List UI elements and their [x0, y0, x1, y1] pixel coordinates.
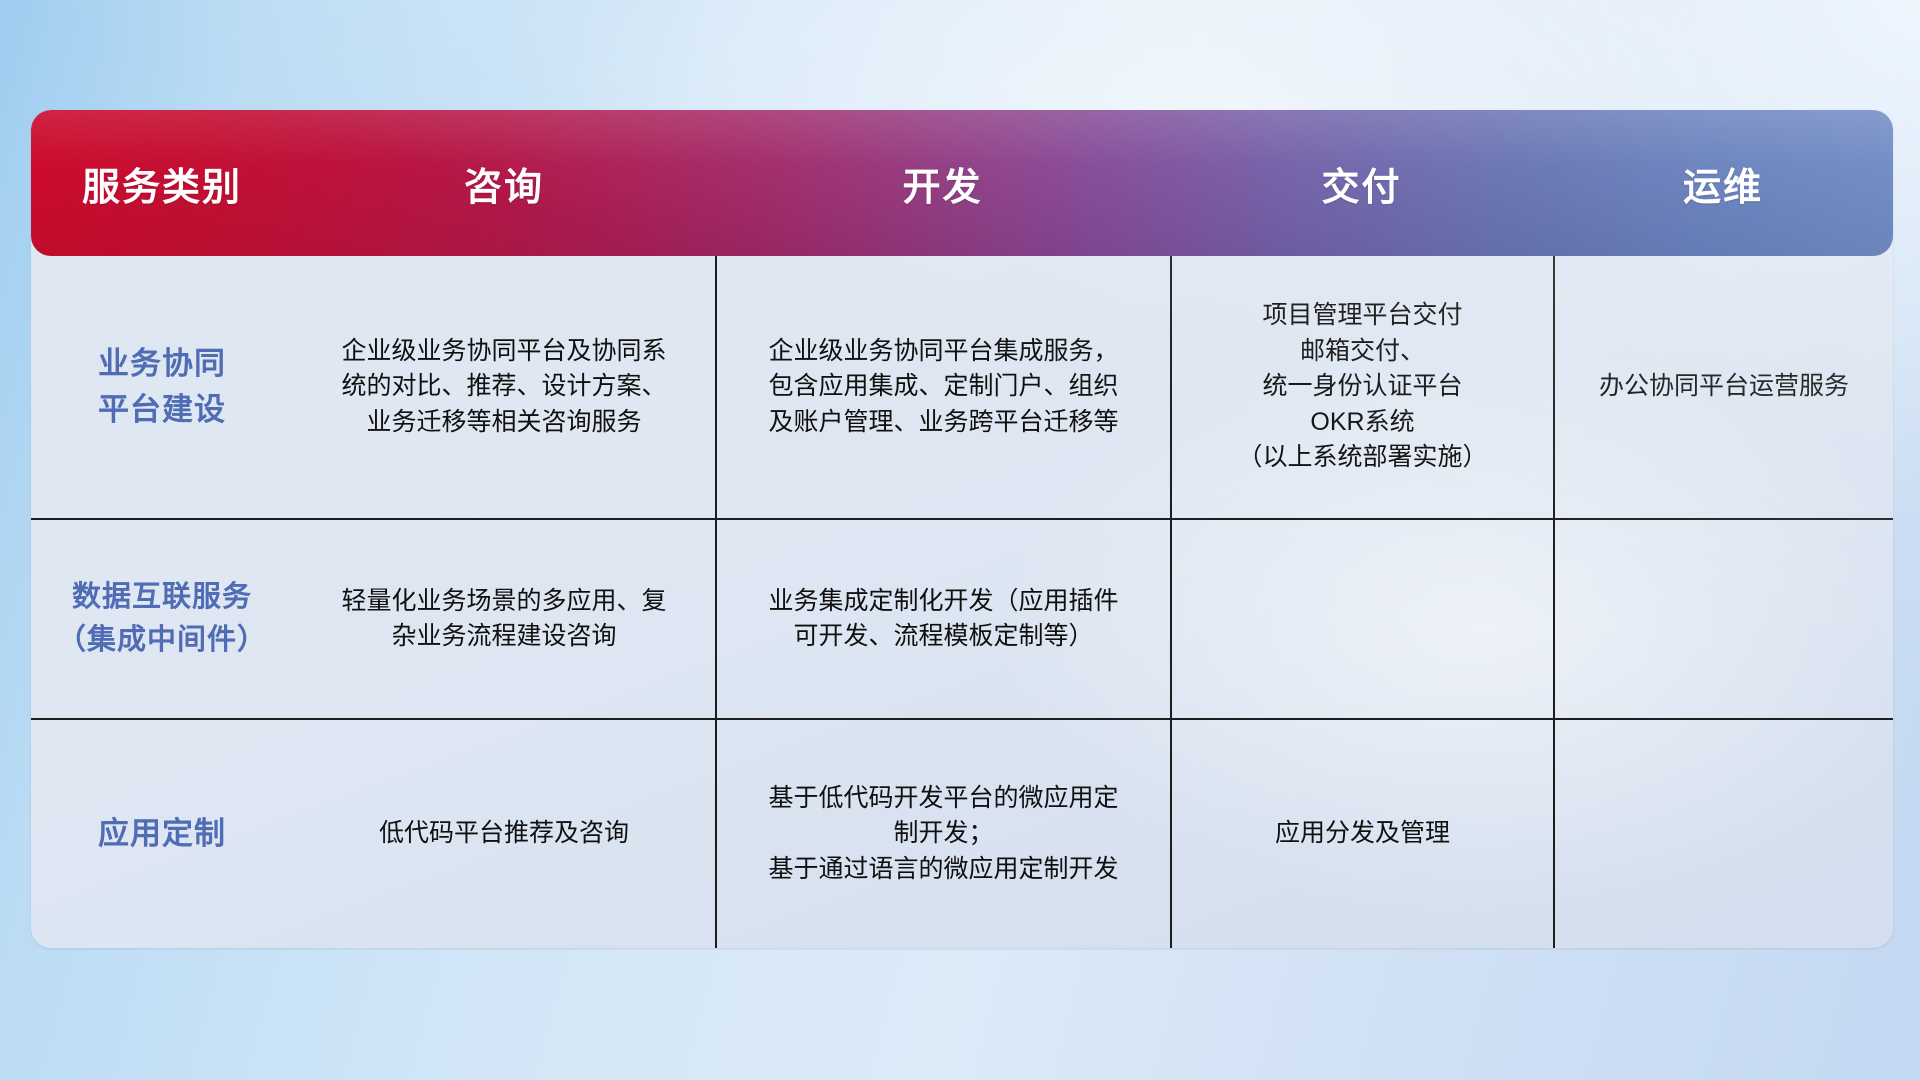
row-2-consulting-cell: 轻量化业务场景的多应用、复 杂业务流程建设咨询: [293, 578, 715, 661]
row-1-category-and-consulting-cell: 业务协同 平台建设 企业级业务协同平台及协同系 统的对比、推荐、设计方案、 业务…: [31, 256, 715, 518]
row-2-category-label: 数据互联服务 （集成中间件）: [31, 572, 293, 667]
column-header-label: 开发: [902, 156, 982, 211]
column-header-development: 开发: [715, 110, 1170, 256]
row-2-operations-cell: [1553, 520, 1893, 718]
row-3-delivery-cell: 应用分发及管理: [1170, 720, 1553, 948]
column-header-consulting: 咨询: [293, 110, 715, 256]
row-1-development-cell: 企业级业务协同平台集成服务， 包含应用集成、定制门户、组织 及账户管理、业务跨平…: [715, 256, 1170, 518]
row-2-category-and-consulting-cell: 数据互联服务 （集成中间件） 轻量化业务场景的多应用、复 杂业务流程建设咨询: [31, 520, 715, 718]
column-header-label: 咨询: [464, 156, 544, 211]
row-1-operations-cell: 办公协同平台运营服务: [1553, 256, 1893, 518]
table-row: 业务协同 平台建设 企业级业务协同平台及协同系 统的对比、推荐、设计方案、 业务…: [31, 256, 1893, 518]
table-body: 业务协同 平台建设 企业级业务协同平台及协同系 统的对比、推荐、设计方案、 业务…: [31, 256, 1893, 948]
column-header-operations: 运维: [1553, 110, 1893, 256]
row-3-consulting-cell: 低代码平台推荐及咨询: [293, 810, 715, 858]
row-1-category-label: 业务协同 平台建设: [31, 337, 293, 438]
row-2-delivery-cell: [1170, 520, 1553, 718]
column-header-label: 交付: [1321, 156, 1401, 211]
row-3-operations-cell: [1553, 720, 1893, 948]
row-1-delivery-cell: 项目管理平台交付 邮箱交付、 统一身份认证平台 OKR系统 （以上系统部署实施）: [1170, 256, 1553, 518]
column-header-label: 服务类别: [82, 156, 242, 211]
row-3-category-and-consulting-cell: 应用定制 低代码平台推荐及咨询: [31, 720, 715, 948]
row-3-development-cell: 基于低代码开发平台的微应用定 制开发； 基于通过语言的微应用定制开发: [715, 720, 1170, 948]
table-header-row: 服务类别 咨询 开发 交付 运维: [31, 110, 1893, 256]
column-header-delivery: 交付: [1170, 110, 1553, 256]
table-row: 应用定制 低代码平台推荐及咨询 基于低代码开发平台的微应用定 制开发； 基于通过…: [31, 718, 1893, 948]
column-header-service-category: 服务类别: [31, 110, 293, 256]
row-3-category-label: 应用定制: [31, 807, 293, 862]
slide-canvas: 服务类别 咨询 开发 交付 运维 业务协同 平台建设 企业级业务协同平台及协同系…: [0, 0, 1920, 1080]
row-1-consulting-cell: 企业级业务协同平台及协同系 统的对比、推荐、设计方案、 业务迁移等相关咨询服务: [293, 328, 715, 447]
service-matrix-table: 服务类别 咨询 开发 交付 运维 业务协同 平台建设 企业级业务协同平台及协同系…: [31, 110, 1893, 948]
table-row: 数据互联服务 （集成中间件） 轻量化业务场景的多应用、复 杂业务流程建设咨询 业…: [31, 518, 1893, 718]
column-header-label: 运维: [1683, 156, 1763, 211]
row-2-development-cell: 业务集成定制化开发（应用插件 可开发、流程模板定制等）: [715, 520, 1170, 718]
